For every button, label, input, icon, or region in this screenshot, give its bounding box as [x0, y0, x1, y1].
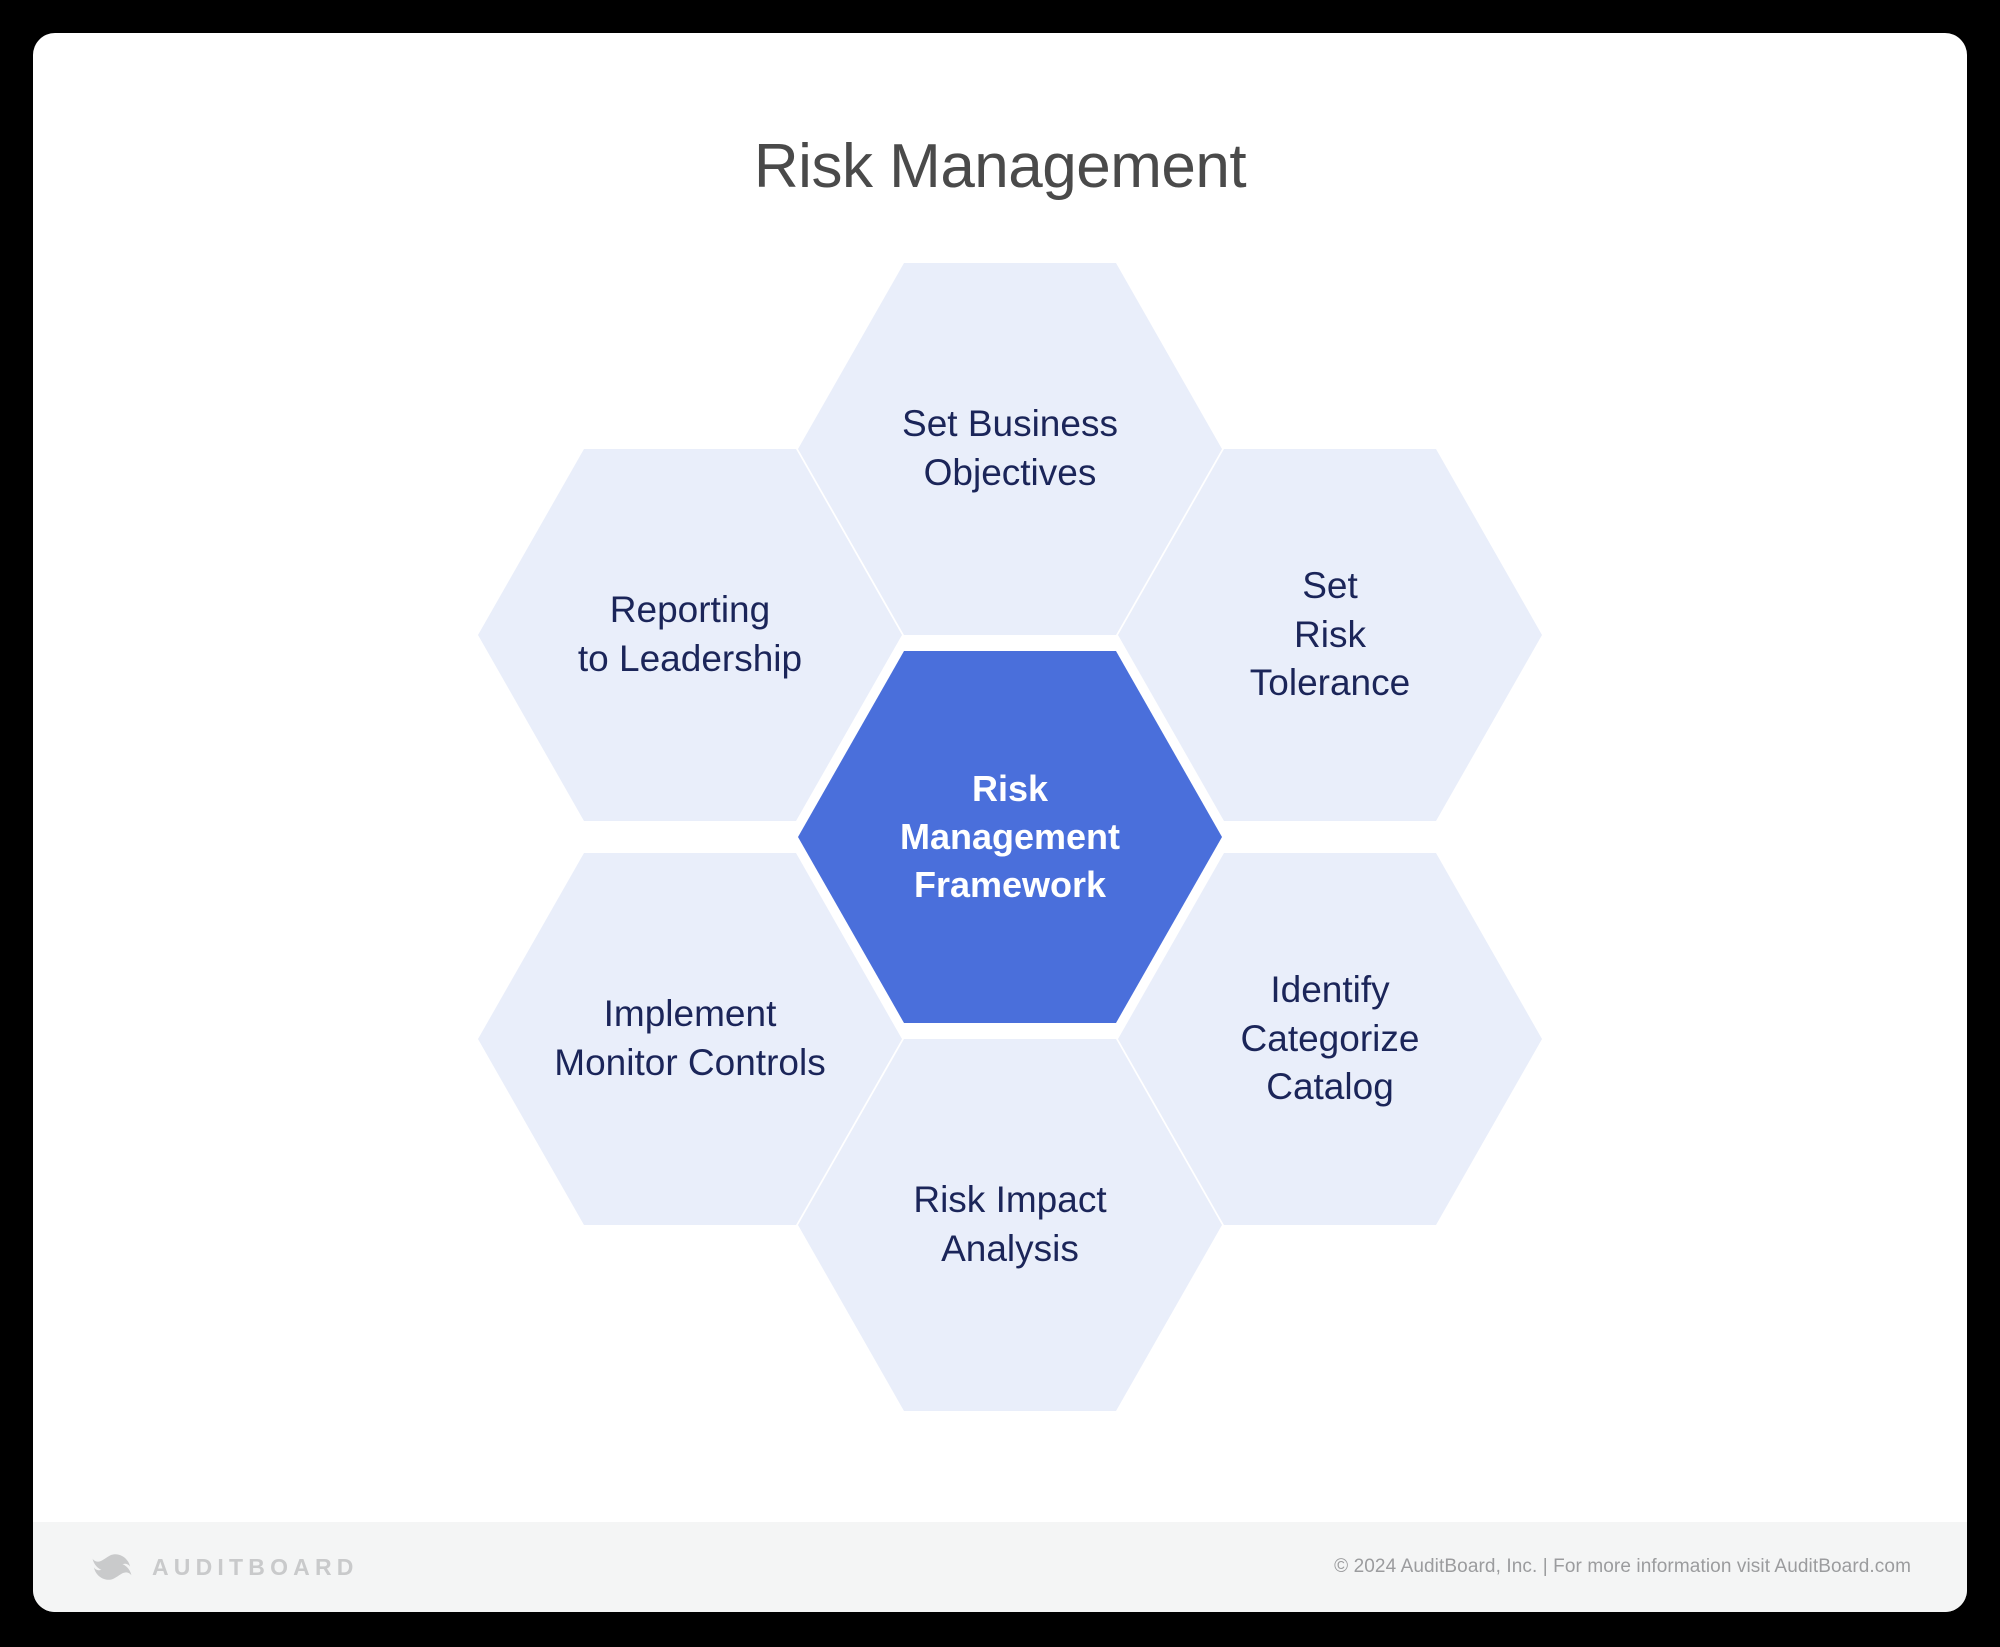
- hex-label: Identify Categorize Catalog: [1201, 966, 1460, 1112]
- hex-label: Risk Management Framework: [860, 765, 1160, 910]
- hex-label: Risk Impact Analysis: [873, 1176, 1146, 1274]
- auditboard-lens-logo-icon: [89, 1550, 135, 1584]
- auditboard-brand: AUDITBOARD: [89, 1550, 359, 1584]
- hex-label: Implement Monitor Controls: [514, 990, 865, 1088]
- screenshot-root: Risk Management Set Business Objectives …: [0, 0, 2000, 1647]
- hex-risk-management-framework[interactable]: Risk Management Framework: [798, 651, 1222, 1023]
- copyright-note: © 2024 AuditBoard, Inc. | For more infor…: [1334, 1556, 1911, 1578]
- hex-label: Set Risk Tolerance: [1210, 562, 1450, 708]
- page-title: Risk Management: [33, 131, 1967, 202]
- hex-label: Reporting to Leadership: [538, 586, 842, 684]
- auditboard-wordmark: AUDITBOARD: [152, 1554, 359, 1581]
- hex-label: Set Business Objectives: [862, 400, 1158, 498]
- content-card: Risk Management Set Business Objectives …: [33, 33, 1967, 1612]
- footer-bar: AUDITBOARD © 2024 AuditBoard, Inc. | For…: [33, 1522, 1967, 1612]
- honeycomb-diagram: Set Business Objectives Set Risk Toleran…: [453, 263, 1603, 1443]
